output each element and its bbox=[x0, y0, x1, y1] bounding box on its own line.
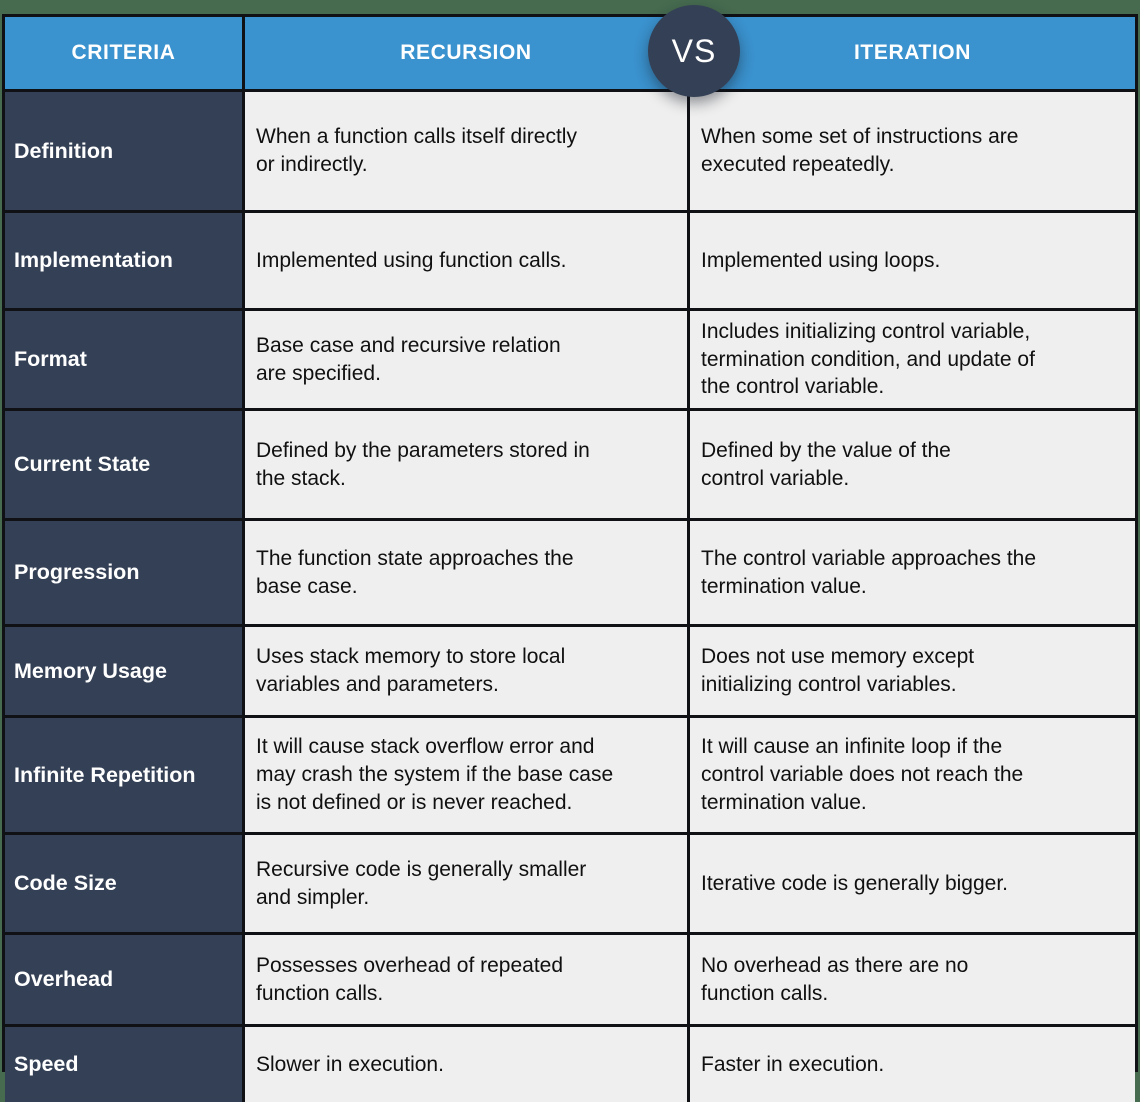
comparison-table: CRITERIA RECURSION ITERATION VS Definiti… bbox=[2, 14, 1138, 1072]
table-row: Memory Usage Uses stack memory to store … bbox=[5, 627, 1135, 718]
row-criteria-label: Implementation bbox=[5, 213, 245, 308]
row-criteria-label: Current State bbox=[5, 411, 245, 518]
table-row: Speed Slower in execution. Faster in exe… bbox=[5, 1027, 1135, 1102]
row-criteria-label: Progression bbox=[5, 521, 245, 624]
header-cell-iteration: ITERATION bbox=[690, 17, 1135, 89]
row-criteria-label: Format bbox=[5, 311, 245, 408]
row-criteria-label: Overhead bbox=[5, 935, 245, 1024]
vs-badge: VS bbox=[648, 5, 740, 97]
table-row: Progression The function state approache… bbox=[5, 521, 1135, 627]
row-criteria-label: Definition bbox=[5, 92, 245, 210]
row-recursion-text: When a function calls itself directly or… bbox=[245, 92, 690, 210]
header-cell-recursion: RECURSION bbox=[245, 17, 690, 89]
row-iteration-text: No overhead as there are no function cal… bbox=[690, 935, 1135, 1024]
row-recursion-text: Slower in execution. bbox=[245, 1027, 690, 1102]
header-cell-criteria: CRITERIA bbox=[5, 17, 245, 89]
row-recursion-text: Possesses overhead of repeated function … bbox=[245, 935, 690, 1024]
header-label-recursion: RECURSION bbox=[400, 41, 531, 65]
row-iteration-text: Faster in execution. bbox=[690, 1027, 1135, 1102]
table-row: Implementation Implemented using functio… bbox=[5, 213, 1135, 311]
table-row: Current State Defined by the parameters … bbox=[5, 411, 1135, 521]
table-row: Format Base case and recursive relation … bbox=[5, 311, 1135, 411]
row-iteration-text: Includes initializing control variable, … bbox=[690, 311, 1135, 408]
row-iteration-text: Defined by the value of the control vari… bbox=[690, 411, 1135, 518]
row-iteration-text: Implemented using loops. bbox=[690, 213, 1135, 308]
row-iteration-text: It will cause an infinite loop if the co… bbox=[690, 718, 1135, 832]
table-row: Overhead Possesses overhead of repeated … bbox=[5, 935, 1135, 1027]
table-row: Infinite Repetition It will cause stack … bbox=[5, 718, 1135, 835]
row-criteria-label: Infinite Repetition bbox=[5, 718, 245, 832]
row-criteria-label: Memory Usage bbox=[5, 627, 245, 715]
row-recursion-text: Defined by the parameters stored in the … bbox=[245, 411, 690, 518]
table-row: Code Size Recursive code is generally sm… bbox=[5, 835, 1135, 935]
header-label-iteration: ITERATION bbox=[854, 41, 971, 65]
row-recursion-text: Implemented using function calls. bbox=[245, 213, 690, 308]
row-iteration-text: Does not use memory except initializing … bbox=[690, 627, 1135, 715]
row-recursion-text: The function state approaches the base c… bbox=[245, 521, 690, 624]
row-recursion-text: Uses stack memory to store local variabl… bbox=[245, 627, 690, 715]
table-row: Definition When a function calls itself … bbox=[5, 92, 1135, 213]
vs-badge-label: VS bbox=[672, 33, 717, 70]
row-criteria-label: Speed bbox=[5, 1027, 245, 1102]
row-recursion-text: It will cause stack overflow error and m… bbox=[245, 718, 690, 832]
row-criteria-label: Code Size bbox=[5, 835, 245, 932]
row-iteration-text: The control variable approaches the term… bbox=[690, 521, 1135, 624]
row-iteration-text: Iterative code is generally bigger. bbox=[690, 835, 1135, 932]
row-recursion-text: Base case and recursive relation are spe… bbox=[245, 311, 690, 408]
table-header-row: CRITERIA RECURSION ITERATION VS bbox=[5, 17, 1135, 92]
row-iteration-text: When some set of instructions are execut… bbox=[690, 92, 1135, 210]
table-body: Definition When a function calls itself … bbox=[5, 92, 1135, 1102]
header-label-criteria: CRITERIA bbox=[72, 41, 176, 65]
page-frame: CRITERIA RECURSION ITERATION VS Definiti… bbox=[0, 0, 1140, 1076]
row-recursion-text: Recursive code is generally smaller and … bbox=[245, 835, 690, 932]
